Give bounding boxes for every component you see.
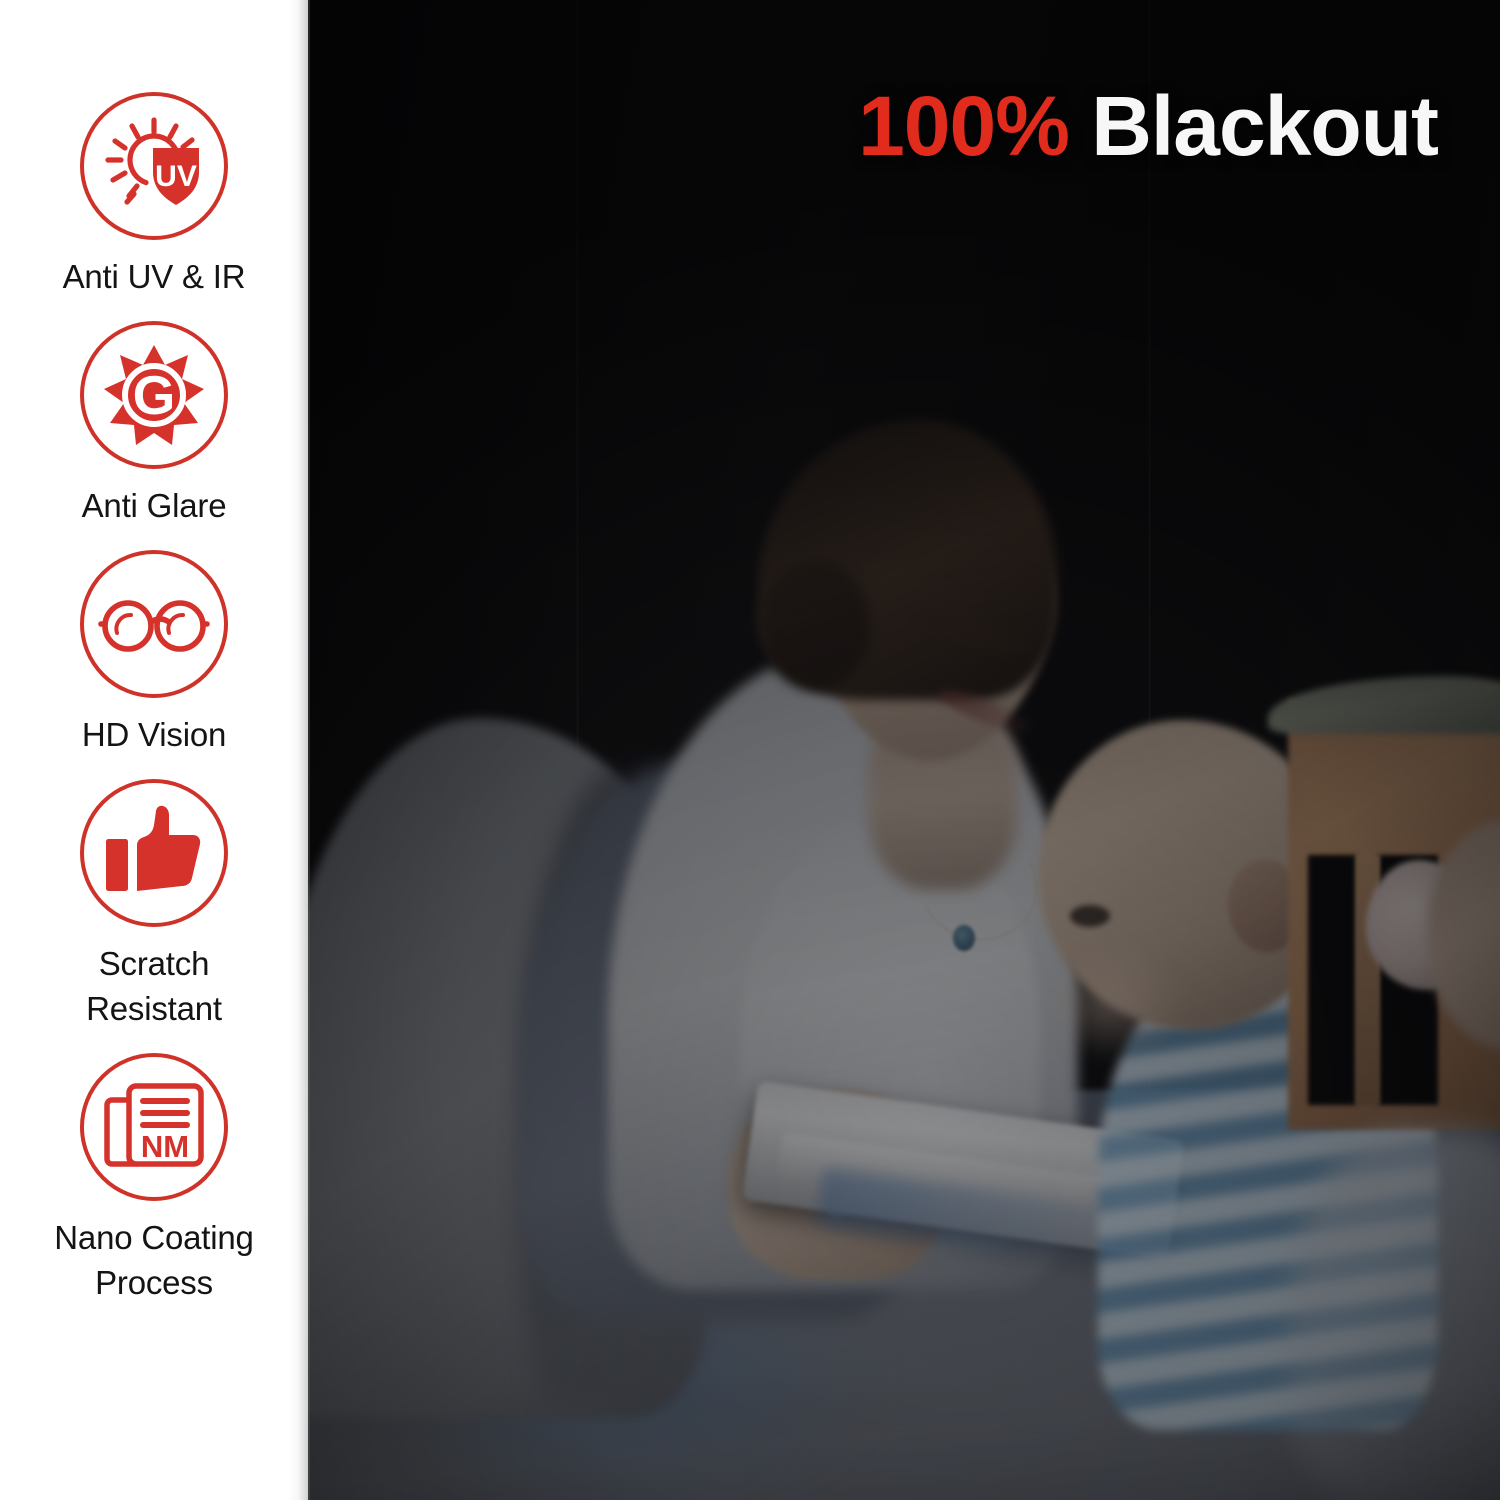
feature-anti-uv-ir[interactable]: UV Anti UV & IR <box>24 92 284 299</box>
headline-word: Blackout <box>1091 79 1438 173</box>
bedroom-photo-scene: 100% Blackout <box>308 0 1500 1500</box>
feature-hd-vision[interactable]: HD Vision <box>24 550 284 757</box>
woman-pendant <box>953 925 975 951</box>
feature-label-scratch-resistant: Scratch Resistant <box>86 941 222 1031</box>
glare-letter-text: G <box>133 364 176 426</box>
feature-nano-coating[interactable]: NM Nano Coating Process <box>24 1053 284 1305</box>
feature-label-nano-coating: Nano Coating Process <box>54 1215 253 1305</box>
feature-anti-glare[interactable]: G Anti Glare <box>24 321 284 528</box>
feature-label-hd-vision: HD Vision <box>82 712 226 757</box>
product-feature-banner: 100% Blackout <box>0 0 1500 1500</box>
feature-label-anti-glare: Anti Glare <box>82 483 227 528</box>
uv-badge-text: UV <box>155 160 197 193</box>
document-nm-icon: NM <box>80 1053 228 1201</box>
eyeglasses-icon <box>80 550 228 698</box>
crib-slat-gap-a <box>1308 855 1356 1105</box>
nano-badge-text: NM <box>141 1129 189 1164</box>
toddler-cheek <box>1053 950 1183 1060</box>
feature-label-anti-uv-ir: Anti UV & IR <box>63 254 246 299</box>
feature-scratch-resistant[interactable]: Scratch Resistant <box>24 779 284 1031</box>
thumbs-up-icon <box>80 779 228 927</box>
toddler-eye <box>1070 905 1110 927</box>
starburst-g-icon: G <box>80 321 228 469</box>
woman-hair-bun <box>760 560 870 690</box>
headline: 100% Blackout <box>858 78 1438 175</box>
sun-uv-shield-icon: UV <box>80 92 228 240</box>
feature-rail: UV Anti UV & IR G Anti Glare <box>0 0 308 1500</box>
headline-percent: 100% <box>858 79 1069 173</box>
